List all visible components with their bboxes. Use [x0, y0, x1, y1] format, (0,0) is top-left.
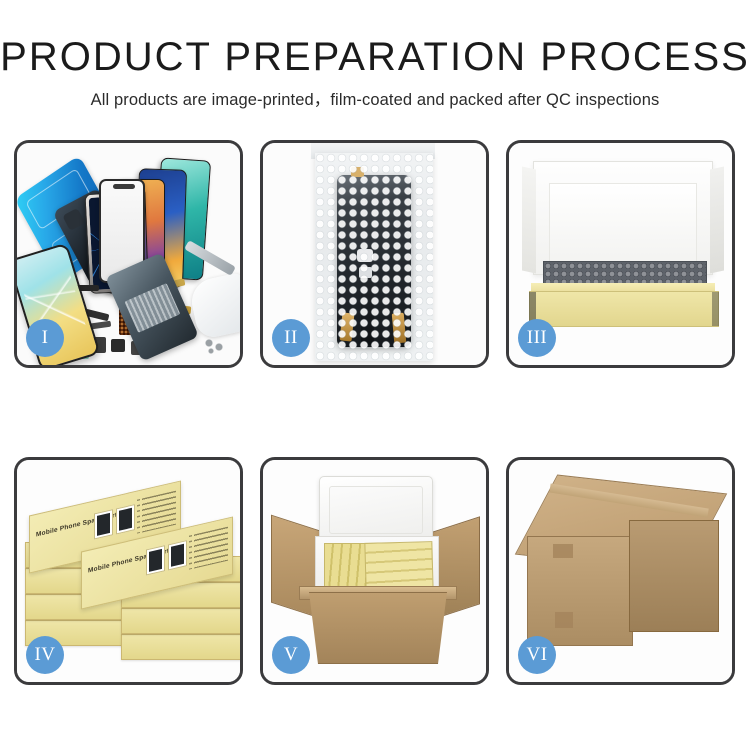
- bubble-texture: [315, 153, 433, 361]
- white-foam-sheet: [549, 183, 697, 265]
- carton-tape-patch-bottom: [555, 612, 573, 628]
- yellow-boxes-inside: [324, 543, 432, 589]
- process-step-4[interactable]: Mobile Phone Spare Parts Mobile Phone Sp…: [14, 457, 243, 685]
- process-step-6[interactable]: VI: [506, 457, 735, 685]
- process-step-5[interactable]: V: [260, 457, 489, 685]
- carton-left-face: [527, 536, 633, 646]
- box-artwork-phone-1: [94, 509, 113, 539]
- box-bullet-lines-1: [142, 491, 176, 533]
- step-badge-3: III: [518, 319, 556, 357]
- box-bullet-lines-2: [194, 527, 228, 569]
- page-title: PRODUCT PREPARATION PROCESS: [0, 34, 750, 80]
- carton-right-face: [629, 520, 719, 632]
- process-step-3[interactable]: III: [506, 140, 735, 368]
- process-step-2[interactable]: II: [260, 140, 489, 368]
- process-step-grid: I II: [14, 140, 736, 685]
- process-step-1[interactable]: I: [14, 140, 243, 368]
- carton-front-panel: [303, 592, 453, 664]
- page-subtitle: All products are image-printed，film-coat…: [0, 89, 750, 111]
- foam-box-lid: [319, 476, 433, 544]
- step-badge-6: VI: [518, 636, 556, 674]
- box-artwork-phone-4: [168, 540, 187, 570]
- box-artwork-phone-3: [146, 545, 165, 575]
- box-artwork-phone-2: [116, 504, 135, 534]
- screws-icon: [205, 339, 229, 355]
- carton-tape-patch-top: [553, 544, 573, 558]
- step-badge-2: II: [272, 319, 310, 357]
- stacked-box-right-1: [121, 634, 243, 660]
- step-badge-1: I: [26, 319, 64, 357]
- step-badge-4: IV: [26, 636, 64, 674]
- kraft-box-front: [529, 291, 719, 327]
- bubble-wrap-bag: [315, 153, 433, 361]
- step-badge-5: V: [272, 636, 310, 674]
- component-chip-2: [111, 339, 125, 352]
- page-header: PRODUCT PREPARATION PROCESS All products…: [0, 0, 750, 111]
- stacked-box-right-2: [121, 608, 243, 634]
